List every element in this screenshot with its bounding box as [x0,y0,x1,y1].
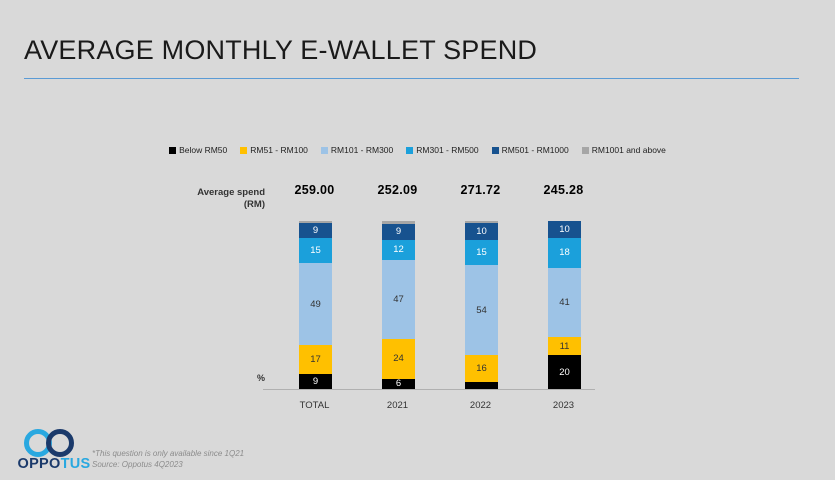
category-label: 2023 [522,400,605,411]
bar-segment-label: 15 [476,247,487,258]
logo-text-oppo: OPPO [17,456,60,472]
bar-segment-label: 16 [476,363,487,374]
bar-segment-label: 11 [560,341,570,352]
bar-segment[interactable]: 9 [299,374,332,389]
bar-segment[interactable]: 17 [299,345,332,374]
legend-item-label: Below RM50 [179,145,227,155]
bar-segment[interactable]: 6 [382,379,415,389]
bar-segment-label: 54 [476,305,487,316]
legend-swatch-icon [406,147,413,154]
chart-legend: Below RM50RM51 - RM100RM101 - RM300RM301… [0,145,835,155]
legend-item: RM51 - RM100 [240,145,308,155]
bar-segment-label: 41 [559,297,570,308]
legend-item: RM101 - RM300 [321,145,393,155]
bar-segment-label: 10 [559,224,570,235]
bar-segment-label: 20 [559,367,570,378]
average-spend-value: 271.72 [439,183,522,197]
stacked-bar[interactable]: 10155416 [465,221,498,389]
legend-swatch-icon [582,147,589,154]
title-block: AVERAGE MONTHLY E-WALLET SPEND [24,34,799,66]
bar-segment-label: 9 [396,226,401,237]
logo-text-tus: TUS [61,456,91,472]
category-label: 2021 [356,400,439,411]
bar-segment-label: 18 [559,247,570,258]
bar-segment-label: 49 [310,299,321,310]
stacked-bar-chart: Average spend (RM) % 259.0091549179TOTAL… [185,183,605,413]
footer-notes: *This question is only available since 1… [92,448,244,470]
bar-segment[interactable]: 9 [299,223,332,238]
bar-segment-label: 15 [310,245,321,256]
legend-item-label: RM101 - RM300 [331,145,393,155]
category-label: TOTAL [273,400,356,411]
chart-column: 252.09912472462021 [356,183,439,413]
bar-segment-label: 24 [393,353,404,364]
legend-item-label: RM501 - RM1000 [502,145,569,155]
percent-axis-label: % [219,373,265,383]
bar-segment-label: 47 [393,294,404,305]
legend-item: RM301 - RM500 [406,145,478,155]
bar-segment[interactable]: 41 [548,268,581,337]
chart-column: 271.72101554162022 [439,183,522,413]
bar-segment[interactable]: 24 [382,339,415,379]
legend-item: RM1001 and above [582,145,666,155]
average-spend-axis-label: Average spend (RM) [185,187,265,211]
bar-segment-label: 17 [310,354,321,365]
legend-item-label: RM51 - RM100 [250,145,308,155]
bar-segment[interactable]: 15 [299,238,332,263]
average-spend-value: 259.00 [273,183,356,197]
legend-swatch-icon [169,147,176,154]
bar-segment[interactable]: 10 [465,223,498,240]
bar-segment[interactable]: 15 [465,240,498,265]
bar-segment[interactable]: 47 [382,260,415,339]
stacked-bar[interactable]: 91549179 [299,221,332,389]
chart-column: 245.2810184111202023 [522,183,605,413]
stacked-bar[interactable]: 1018411120 [548,221,581,389]
bar-segment-label: 6 [396,379,401,389]
footnote-source: Source: Oppotus 4Q2023 [92,459,244,470]
bar-segment-label: 9 [313,376,318,387]
average-spend-label-line1: Average spend [197,187,265,198]
legend-item: RM501 - RM1000 [492,145,569,155]
bar-segment-label: 12 [393,244,404,255]
bar-segment-label: 10 [476,226,487,237]
bar-segment[interactable]: 18 [548,238,581,268]
chart-column: 259.0091549179TOTAL [273,183,356,413]
bar-segment[interactable]: 49 [299,263,332,345]
bar-segment[interactable]: 16 [465,355,498,382]
chart-plot-area: 259.0091549179TOTAL252.09912472462021271… [273,183,605,413]
footnote-availability: *This question is only available since 1… [92,448,244,459]
bar-segment[interactable]: 20 [548,355,581,389]
legend-item-label: RM301 - RM500 [416,145,478,155]
legend-swatch-icon [240,147,247,154]
average-spend-label-line2: (RM) [244,199,265,210]
title-divider [24,78,799,79]
bar-segment-label: 9 [313,225,318,236]
bar-segment[interactable]: 54 [465,265,498,356]
legend-swatch-icon [321,147,328,154]
category-label: 2022 [439,400,522,411]
bar-segment[interactable]: 10 [548,221,581,238]
stacked-bar[interactable]: 91247246 [382,221,415,389]
bar-segment[interactable] [465,382,498,389]
oppotus-logo-text: OPPOTUS [12,456,96,472]
legend-item-label: RM1001 and above [592,145,666,155]
average-spend-value: 252.09 [356,183,439,197]
oppotus-logo-mark [12,428,92,458]
page-title: AVERAGE MONTHLY E-WALLET SPEND [24,34,799,66]
legend-swatch-icon [492,147,499,154]
bar-segment[interactable]: 9 [382,224,415,239]
average-spend-value: 245.28 [522,183,605,197]
bar-segment[interactable]: 12 [382,240,415,260]
bar-segment[interactable]: 11 [548,337,581,355]
chart-baseline-axis [263,389,595,390]
legend-item: Below RM50 [169,145,227,155]
